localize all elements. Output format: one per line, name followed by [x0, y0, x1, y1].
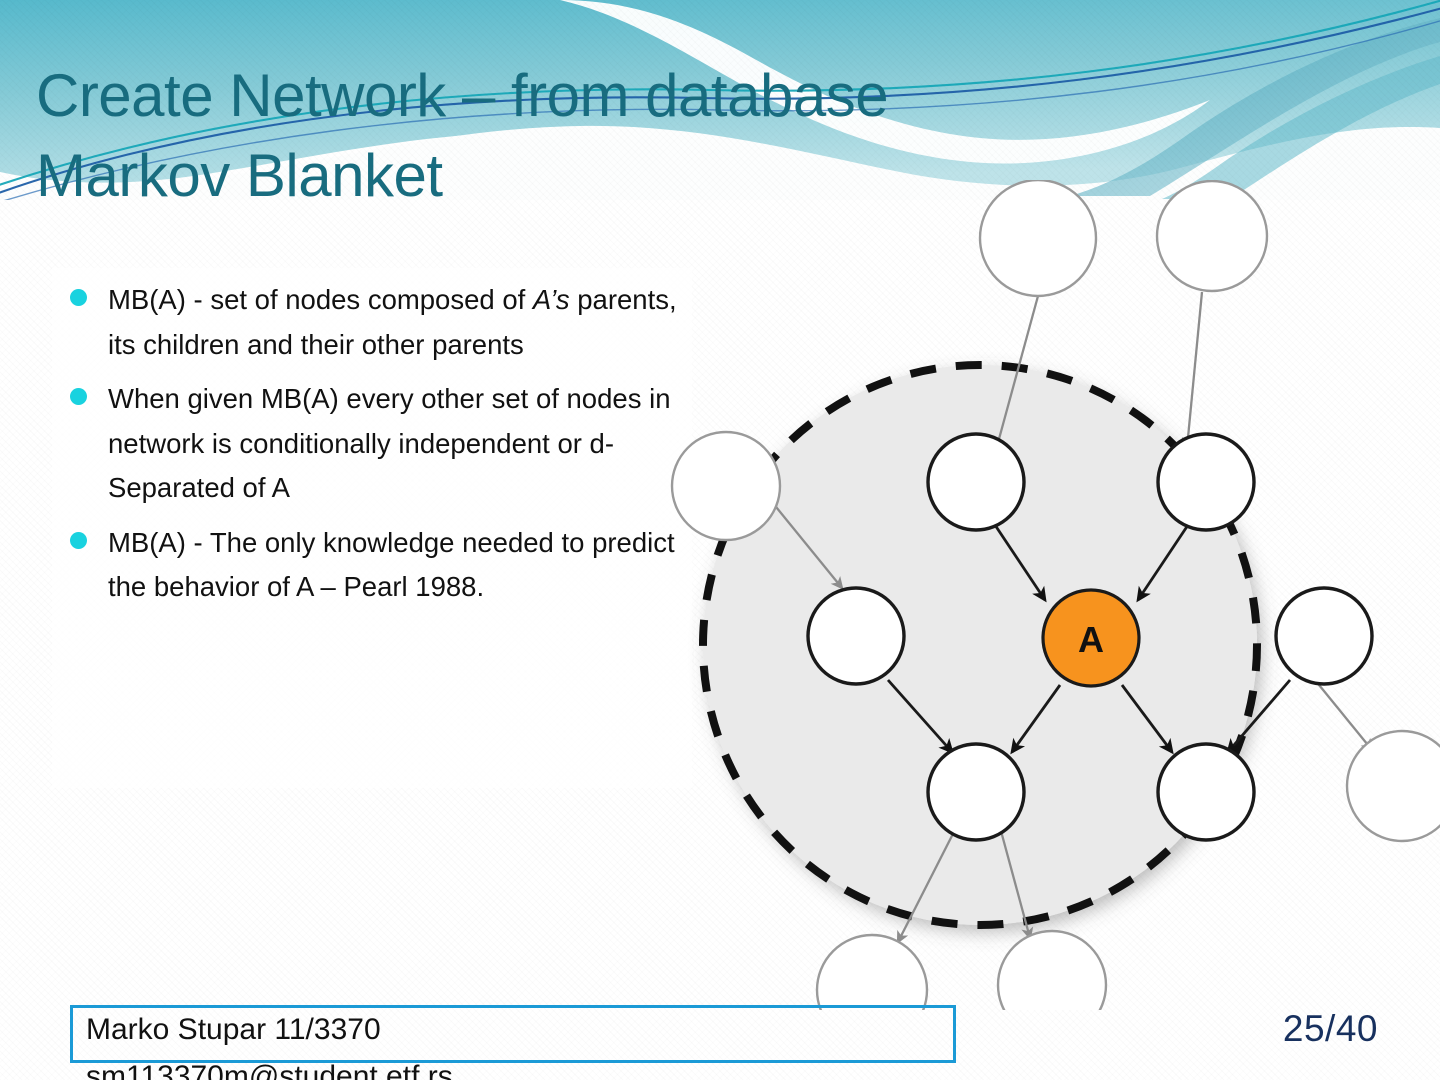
- bullet-dot-icon: [70, 289, 87, 306]
- inner-node-coparent-right: [1276, 588, 1372, 684]
- page-title: Create Network – from database Markov Bl…: [36, 56, 1116, 217]
- inner-node-parent-right: [1158, 434, 1254, 530]
- page-number: 25/40: [1283, 1008, 1378, 1050]
- outer-node: [817, 935, 927, 1010]
- list-item: MB(A) - set of nodes composed of A’s par…: [56, 278, 696, 367]
- author-name: Marko Stupar 11/3370: [86, 1013, 381, 1047]
- bullet-list: MB(A) - set of nodes composed of A’s par…: [56, 278, 696, 620]
- outer-node: [1347, 731, 1440, 841]
- bullet-text-emphasis: A’s: [533, 284, 570, 315]
- bullet-dot-icon: [70, 532, 87, 549]
- bullet-text-pre: When given MB(A) every other set of node…: [108, 383, 671, 503]
- markov-blanket-diagram: A: [660, 180, 1440, 1010]
- page-title-line2: Markov Blanket: [36, 136, 1116, 216]
- inner-node-child-left: [928, 744, 1024, 840]
- outer-node: [998, 931, 1106, 1010]
- center-node-a-label: A: [1078, 619, 1104, 660]
- slide-canvas: Create Network – from database Markov Bl…: [0, 0, 1440, 1080]
- inner-node-coparent-left: [808, 588, 904, 684]
- edge-outer-parent-2: [1187, 292, 1202, 448]
- edge-inner-to-outer-right: [1315, 680, 1372, 750]
- bullet-text-pre: MB(A) - set of nodes composed of: [108, 284, 533, 315]
- page-title-line1: Create Network – from database: [36, 56, 1116, 136]
- outer-node: [1157, 181, 1267, 291]
- inner-node-parent-left: [928, 434, 1024, 530]
- inner-node-child-right: [1158, 744, 1254, 840]
- bullet-text-pre: MB(A) - The only knowledge needed to pre…: [108, 527, 675, 603]
- author-email: sm113370m@student.etf.rs: [86, 1060, 453, 1080]
- list-item: MB(A) - The only knowledge needed to pre…: [56, 521, 696, 610]
- list-item: When given MB(A) every other set of node…: [56, 377, 696, 511]
- bullet-dot-icon: [70, 388, 87, 405]
